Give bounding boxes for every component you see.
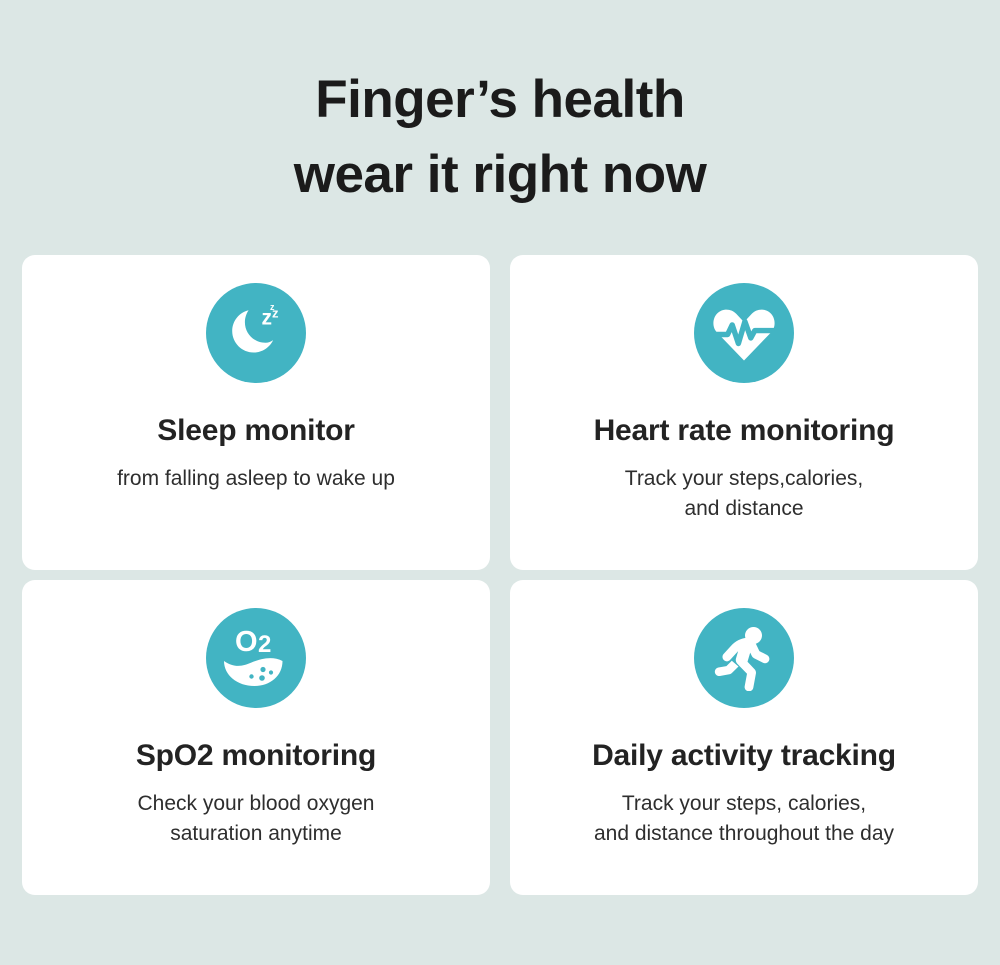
feature-card-description-line: from falling asleep to wake up (117, 464, 395, 494)
svg-text:z: z (270, 302, 275, 312)
feature-card-sleep-monitor[interactable]: z z z Sleep monitor from falling asleep … (22, 255, 490, 570)
feature-card-description-line: and distance (625, 494, 863, 524)
feature-card-description: Track your steps, calories, and distance… (594, 774, 894, 849)
feature-card-spo2-monitoring[interactable]: O 2 SpO2 monitoring Check your blood oxy… (22, 580, 490, 895)
page-title-line-2: wear it right now (0, 137, 1000, 212)
feature-card-description: from falling asleep to wake up (117, 449, 395, 494)
blood-oxygen-o2-icon: O 2 (206, 608, 306, 708)
feature-card-title: SpO2 monitoring (136, 708, 376, 774)
feature-card-description-line: and distance throughout the day (594, 819, 894, 849)
heart-pulse-icon (694, 283, 794, 383)
feature-card-description-line: saturation anytime (138, 819, 375, 849)
feature-card-grid: z z z Sleep monitor from falling asleep … (22, 255, 978, 895)
moon-zzz-icon: z z z (206, 283, 306, 383)
feature-card-description: Check your blood oxygen saturation anyti… (138, 774, 375, 849)
page-title-line-1: Finger’s health (0, 62, 1000, 137)
svg-text:2: 2 (258, 631, 271, 658)
running-person-icon (694, 608, 794, 708)
feature-card-title: Sleep monitor (157, 383, 354, 449)
page-title: Finger’s health wear it right now (0, 0, 1000, 213)
promo-page: Finger’s health wear it right now z z z … (0, 0, 1000, 965)
svg-text:O: O (235, 626, 258, 658)
feature-card-title: Daily activity tracking (592, 708, 896, 774)
feature-card-description-line: Track your steps,calories, (625, 464, 863, 494)
feature-card-description: Track your steps,calories, and distance (625, 449, 863, 524)
feature-card-description-line: Check your blood oxygen (138, 789, 375, 819)
page-title-line-2-rest: ear it right now (334, 145, 706, 204)
feature-card-heart-rate-monitoring[interactable]: Heart rate monitoring Track your steps,c… (510, 255, 978, 570)
feature-card-description-line: Track your steps, calories, (594, 789, 894, 819)
page-title-line-2-lead: w (294, 145, 335, 204)
feature-card-daily-activity-tracking[interactable]: Daily activity tracking Track your steps… (510, 580, 978, 895)
feature-card-title: Heart rate monitoring (594, 383, 895, 449)
